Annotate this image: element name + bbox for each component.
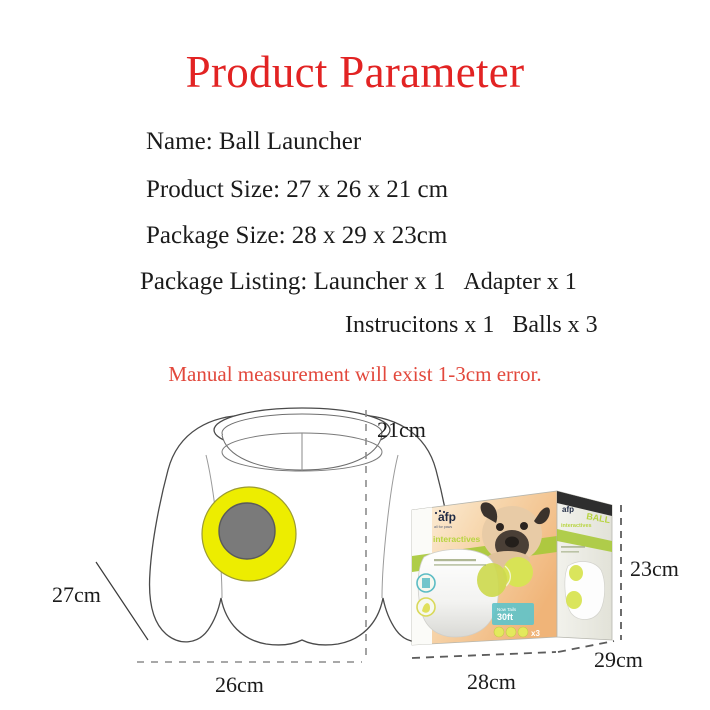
dimension-label-launcher-depth: 27cm: [52, 582, 101, 608]
svg-text:BALL: BALL: [586, 511, 612, 525]
dimension-label-launcher-height: 21cm: [377, 417, 426, 443]
product-box-icon: afp all for paws interactives Now Tails …: [0, 0, 710, 710]
spec-product-size: Product Size: 27 x 26 x 21 cm: [146, 175, 448, 205]
svg-text:afp: afp: [562, 505, 574, 514]
ball-launcher-icon: [0, 0, 710, 710]
dimension-label-package-depth: 29cm: [594, 647, 643, 673]
svg-text:all for paws: all for paws: [434, 525, 452, 529]
dimension-label-package-width: 28cm: [467, 669, 516, 695]
dimension-label-launcher-width: 26cm: [215, 672, 264, 698]
guide-package-width: [412, 652, 556, 658]
spec-package-size: Package Size: 28 x 29 x 23cm: [146, 221, 447, 251]
dimension-guides: [0, 0, 710, 710]
ball-count-label: x3: [531, 629, 540, 638]
listing-balls: Balls x 3: [512, 312, 597, 338]
product-parameter-infographic: Product Parameter Name: Ball Launcher Pr…: [0, 0, 710, 710]
dimension-label-package-height: 23cm: [630, 556, 679, 582]
svg-text:30ft: 30ft: [497, 612, 513, 622]
spec-package-listing-line-2: Instrucitons x 1 Balls x 3: [345, 310, 598, 340]
measurement-warning: Manual measurement will exist 1-3cm erro…: [0, 361, 710, 387]
spec-product-name: Name: Ball Launcher: [146, 127, 361, 157]
listing-adapter: [445, 269, 463, 295]
svg-text:interactives: interactives: [561, 523, 592, 529]
listing-adapter-label: Adapter x 1: [463, 269, 576, 295]
spec-package-listing-line-1: Package Listing: Launcher x 1 Adapter x …: [140, 267, 577, 297]
svg-text:afp: afp: [438, 510, 456, 524]
listing-instructions: Instrucitons x 1: [345, 312, 494, 338]
listing-spacer: [494, 312, 512, 338]
listing-launcher: Package Listing: Launcher x 1: [140, 268, 445, 295]
svg-text:interactives: interactives: [433, 534, 481, 544]
svg-text:Now Tails: Now Tails: [497, 607, 517, 612]
page-title: Product Parameter: [0, 46, 710, 98]
